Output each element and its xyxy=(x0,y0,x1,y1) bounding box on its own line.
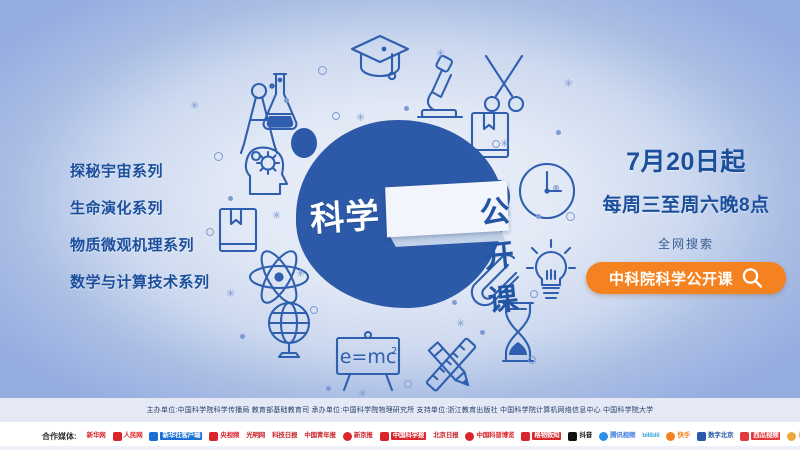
decor-dot xyxy=(332,112,340,120)
media-partner-logo[interactable]: 西瓜视频 xyxy=(740,431,780,442)
sparkle-icon: ✳ xyxy=(456,318,465,329)
media-partner-logo[interactable]: 抖音 xyxy=(568,431,592,442)
media-partner-mark xyxy=(521,432,530,441)
media-partner-logo[interactable]: 新华网 xyxy=(87,431,106,442)
series-item-2[interactable]: 物质微观机理系列 xyxy=(70,238,300,253)
media-partner-name: 中国科学报 xyxy=(391,432,427,441)
sparkle-icon: ✳ xyxy=(436,48,445,59)
media-partner-logo[interactable]: 中国科学报 xyxy=(380,431,427,442)
media-partner-logo[interactable]: 央视频 xyxy=(209,431,239,442)
media-partner-logo[interactable]: 北京日报 xyxy=(433,431,458,442)
media-partners-label: 合作媒体: xyxy=(42,431,77,442)
media-partner-name: 北京日报 xyxy=(433,433,458,440)
footer-strip xyxy=(0,446,800,450)
decor-dot xyxy=(240,334,245,339)
media-partner-mark xyxy=(209,432,218,441)
media-partner-name: 光明网 xyxy=(246,433,265,440)
media-partner-name: 人民网 xyxy=(124,433,143,440)
science-open-class-poster: e=mc 2 xyxy=(0,0,800,450)
search-keyword-label: 中科院科学公开课 xyxy=(609,268,733,289)
media-partner-mark xyxy=(599,432,608,441)
decor-dot xyxy=(492,140,500,148)
media-partner-name: 中国科普博览 xyxy=(476,433,514,440)
media-partner-logo[interactable]: bilibili xyxy=(642,431,659,442)
media-partner-name: 快手 xyxy=(677,433,690,440)
media-partner-name: 新京报 xyxy=(354,433,373,440)
media-partner-logo[interactable]: 光明网 xyxy=(246,431,265,442)
series-list: 探秘宇宙系列 生命演化系列 物质微观机理系列 数学与计算技术系列 xyxy=(30,164,300,312)
series-item-3[interactable]: 数学与计算技术系列 xyxy=(70,275,300,290)
series-item-1[interactable]: 生命演化系列 xyxy=(70,201,300,216)
media-partner-logo[interactable]: 格物致知 xyxy=(521,431,561,442)
scissors-icon xyxy=(480,52,528,116)
media-partner-name: 西瓜视频 xyxy=(751,432,780,441)
decor-dot xyxy=(404,380,412,388)
program-logo: 科学 公开课 ® xyxy=(300,186,510,248)
media-logo-list: 新华网人民网新华社客户端央视频光明网科技日报中国青年报新京报中国科学报北京日报中… xyxy=(87,431,800,442)
series-item-0[interactable]: 探秘宇宙系列 xyxy=(70,164,300,179)
sparkle-icon: ✳ xyxy=(564,78,573,89)
media-partner-logo[interactable]: 人民网 xyxy=(113,431,143,442)
logo-left-text: 科学 xyxy=(309,188,382,241)
microscope-icon xyxy=(412,54,468,126)
media-partner-mark xyxy=(343,432,352,441)
blackboard-icon: e=mc 2 xyxy=(332,330,406,392)
media-partner-logo[interactable]: 中国青年报 xyxy=(304,431,336,442)
media-partner-logo[interactable]: 新京报 xyxy=(343,431,373,442)
media-partner-mark xyxy=(149,432,158,441)
decor-dot xyxy=(326,386,331,391)
media-partner-logo[interactable]: 数字北京 xyxy=(697,431,733,442)
decor-dot xyxy=(556,130,561,135)
media-partner-logo[interactable]: 中国科普博览 xyxy=(465,431,514,442)
media-partner-name: 格物致知 xyxy=(532,432,561,441)
ruler-pencil-icon xyxy=(418,332,482,398)
decor-dot xyxy=(404,106,409,111)
decor-dot xyxy=(480,330,485,335)
media-partner-mark xyxy=(568,432,577,441)
media-partner-mark xyxy=(380,432,389,441)
media-partner-name: bilibili xyxy=(642,433,659,440)
decor-dot xyxy=(214,152,223,161)
organizer-credits-text: 主办单位:中国科学院科学传播局 教育部基础教育司 承办单位:中国科学院物理研究所… xyxy=(147,405,654,415)
media-partner-name: 央视频 xyxy=(220,433,239,440)
media-partner-logo[interactable]: 腾讯视频 xyxy=(599,431,635,442)
blackboard-formula-text: e=mc xyxy=(340,346,397,368)
media-partner-name: 数字北京 xyxy=(708,433,733,440)
media-partner-mark xyxy=(787,432,796,441)
search-keyword-button[interactable]: 中科院科学公开课 xyxy=(586,262,786,294)
graduation-cap-icon xyxy=(348,32,412,88)
magnifier-icon xyxy=(741,267,763,289)
media-partner-name: 抖音 xyxy=(579,433,592,440)
decor-dot xyxy=(284,98,289,103)
blackboard-exponent-text: 2 xyxy=(391,346,397,357)
sparkle-icon: ✳ xyxy=(500,138,509,149)
organizer-credits-bar: 主办单位:中国科学院科学传播局 教育部基础教育司 承办单位:中国科学院物理研究所… xyxy=(0,398,800,422)
logo-trademark: ® xyxy=(553,184,560,194)
decor-dot xyxy=(318,66,327,75)
logo-banner: 公开课 ® xyxy=(385,181,509,238)
media-partner-name: 新华网 xyxy=(87,433,106,440)
decor-dot xyxy=(530,290,538,298)
media-partner-mark xyxy=(113,432,122,441)
media-partner-mark xyxy=(697,432,706,441)
media-partner-name: 科技日报 xyxy=(272,433,297,440)
media-partner-mark xyxy=(666,432,675,441)
media-partner-name: 腾讯视频 xyxy=(610,433,635,440)
media-partner-mark xyxy=(465,432,474,441)
decor-dot xyxy=(310,306,318,314)
media-partner-logo[interactable]: 视频号 xyxy=(787,431,800,442)
search-hint-text: 全网搜索 xyxy=(586,235,786,252)
airtime-text: 每周三至周六晚8点 xyxy=(586,190,786,217)
schedule-block: 7月20日起 每周三至周六晚8点 全网搜索 中科院科学公开课 xyxy=(586,142,786,294)
media-partner-name: 中国青年报 xyxy=(304,433,336,440)
decor-dot xyxy=(528,356,536,364)
sparkle-icon: ✳ xyxy=(190,100,199,111)
sparkle-icon: ✳ xyxy=(356,112,365,123)
media-partner-logo[interactable]: 快手 xyxy=(666,431,690,442)
media-partner-name: 新华社客户端 xyxy=(160,432,202,441)
media-partner-logo[interactable]: 科技日报 xyxy=(272,431,297,442)
media-partner-logo[interactable]: 新华社客户端 xyxy=(149,431,202,442)
decor-dot xyxy=(536,214,541,219)
media-partner-mark xyxy=(740,432,749,441)
decor-dot xyxy=(566,212,575,221)
decor-dot xyxy=(452,300,457,305)
start-date-text: 7月20日起 xyxy=(586,142,786,178)
